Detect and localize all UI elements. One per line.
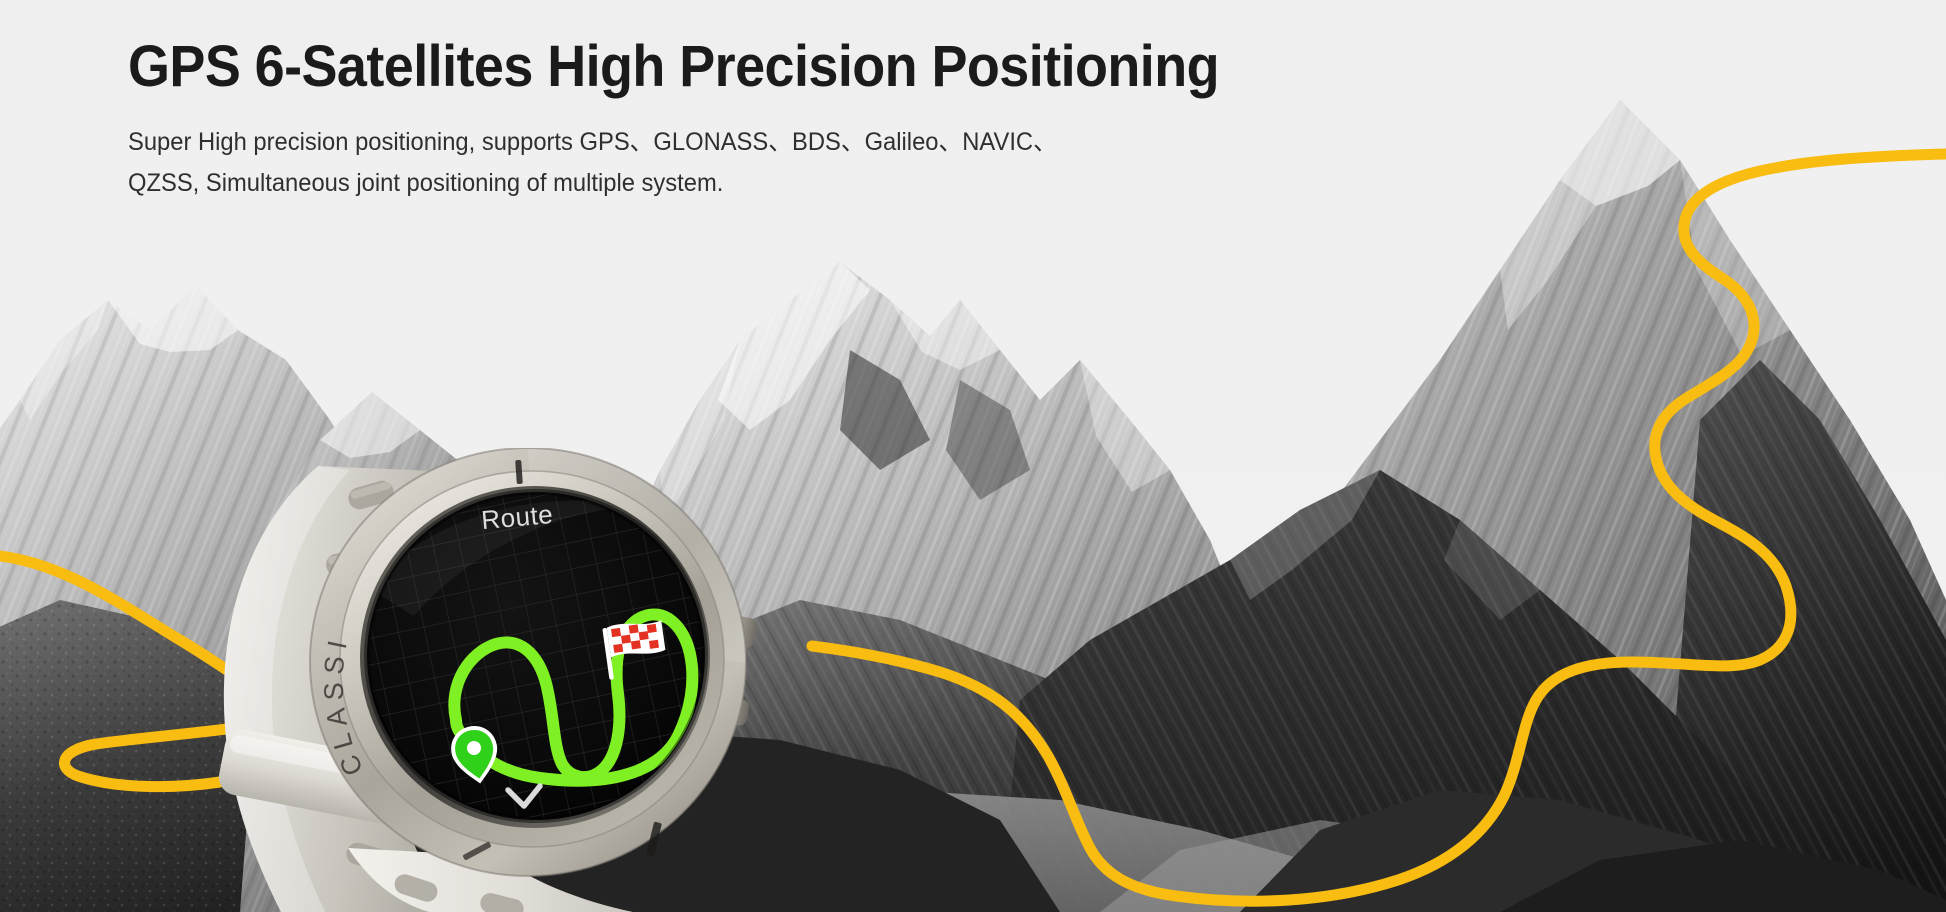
page-subtitle: Super High precision positioning, suppor… bbox=[128, 122, 1242, 203]
promo-banner: GPS 6-Satellites High Precision Position… bbox=[0, 0, 1946, 912]
page-title: GPS 6-Satellites High Precision Position… bbox=[128, 38, 1219, 96]
subtitle-line-2: QZSS, Simultaneous joint positioning of … bbox=[128, 163, 1242, 204]
header-block: GPS 6-Satellites High Precision Position… bbox=[128, 38, 1301, 203]
subtitle-line-1: Super High precision positioning, suppor… bbox=[128, 122, 1242, 163]
smartwatch: CLASSIC Route bbox=[198, 448, 838, 912]
